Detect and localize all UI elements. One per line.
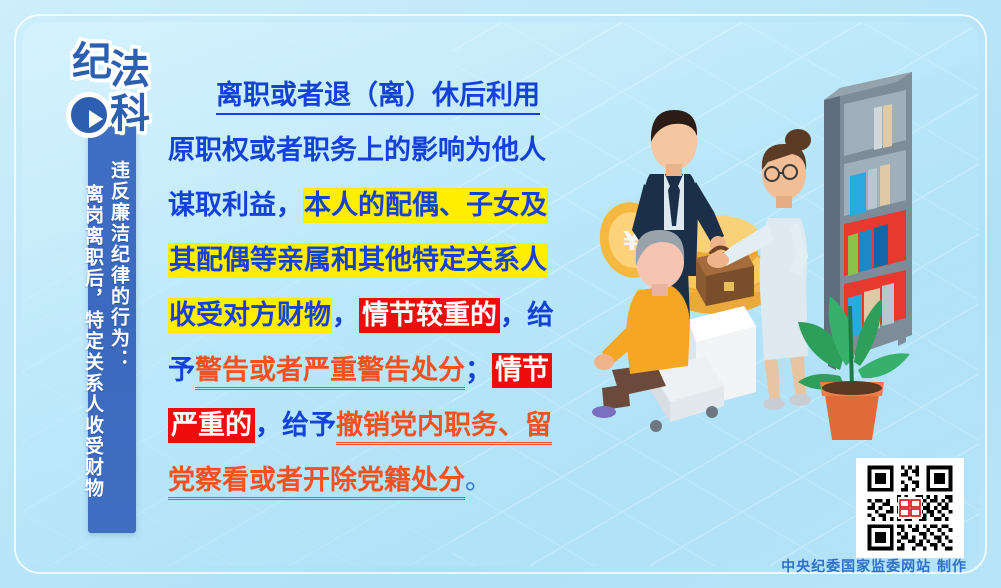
line2-text: 原职权或者职务上的影响为他人: [168, 135, 546, 166]
line1-underlined: 离职或者退（离）休后利用: [216, 80, 540, 115]
text-line-1: 离职或者退（离）休后利用: [168, 68, 588, 123]
line5-tail: ，给: [500, 300, 554, 331]
line7-plain: ，给予: [255, 410, 336, 441]
line5-highlight: 收受对方财物: [168, 298, 332, 333]
line6-semicolon: ；: [465, 355, 492, 386]
line8-period: 。: [465, 465, 492, 496]
line6-red-box: 情节: [492, 353, 552, 388]
line8-orange-underline: 党察看或者开除党籍处分: [168, 465, 465, 500]
logo-char-ji: 纪: [72, 42, 112, 82]
play-triangle-icon: [89, 110, 103, 128]
footer-credit: 中央纪委国家监委网站 制作: [781, 556, 967, 576]
qr-center-logo: [898, 497, 922, 519]
line5-red-box: 情节较重的: [359, 298, 500, 333]
line5-comma: ，: [332, 300, 359, 331]
illustration: ¥ ¥: [592, 70, 992, 490]
line3-plain: 谋取利益，: [168, 190, 303, 221]
line4-highlight: 其配偶等亲属和其他特定关系人: [168, 243, 548, 278]
banner-column-left: 离岗离职后，特定关系人收受财物: [80, 152, 104, 530]
line6-plain: 予: [168, 355, 195, 386]
text-line-4: 其配偶等亲属和其他特定关系人: [168, 233, 588, 288]
qr-logo-mark: [899, 498, 921, 518]
logo-char-fa: 法: [110, 50, 150, 90]
line6-orange-underline: 警告或者严重警告处分: [195, 355, 465, 390]
qr-code[interactable]: [856, 458, 964, 558]
logo-char-ke: 科: [110, 94, 150, 134]
line3-highlight: 本人的配偶、子女及: [303, 188, 548, 223]
text-line-2: 原职权或者职务上的影响为他人: [168, 123, 588, 178]
regulation-text-block: 离职或者退（离）休后利用 原职权或者职务上的影响为他人 谋取利益，本人的配偶、子…: [168, 68, 588, 508]
text-line-5: 收受对方财物，情节较重的，给: [168, 288, 588, 343]
poster-root: 纪 法 科 违反廉洁纪律的行为： 离岗离职后，特定关系人收受财物 离职或者退（离…: [0, 0, 1001, 588]
banner-column-right: 违反廉洁纪律的行为：: [106, 130, 130, 400]
line7-red-box: 严重的: [168, 408, 255, 443]
text-line-8: 党察看或者开除党籍处分。: [168, 453, 588, 508]
line7-orange-underline: 撤销党内职务、留: [336, 410, 552, 445]
text-line-7: 严重的，给予撤销党内职务、留: [168, 398, 588, 453]
text-line-6: 予警告或者严重警告处分；情节: [168, 343, 588, 398]
text-line-3: 谋取利益，本人的配偶、子女及: [168, 178, 588, 233]
